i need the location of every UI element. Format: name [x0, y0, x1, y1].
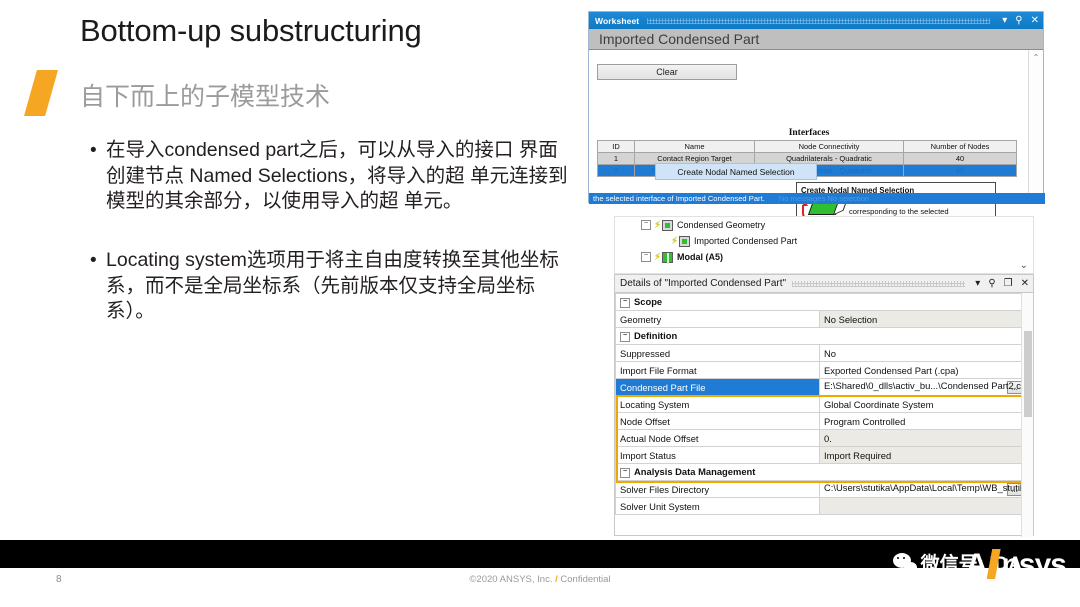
tree-node-imported-condensed-part[interactable]: ⚡ Imported Condensed Part: [615, 233, 1033, 249]
cell-id: 1: [598, 153, 635, 165]
group-expander-icon[interactable]: −: [620, 468, 630, 478]
property-value[interactable]: No: [820, 345, 1024, 362]
pin-icon[interactable]: ⚲: [984, 275, 999, 292]
property-row-locating-system[interactable]: Locating System Global Coordinate System: [616, 396, 1024, 413]
tree-node-label: Modal (A5): [677, 252, 723, 262]
property-value: E:\Shared\0_dlls\activ_bu...\Condensed P…: [824, 380, 1024, 391]
scroll-up-icon[interactable]: ⌃: [1029, 50, 1043, 64]
property-row-solver-unit-system[interactable]: Solver Unit System: [616, 498, 1024, 515]
tooltip-line-2: corresponding to the selected: [849, 207, 978, 217]
property-key: Solver Unit System: [616, 498, 820, 515]
copyright-suffix: Confidential: [560, 574, 610, 585]
worksheet-scrollbar[interactable]: ⌃ ⌄: [1028, 50, 1043, 204]
property-value: 0.: [820, 430, 1024, 447]
worksheet-header-band: Imported Condensed Part: [589, 29, 1043, 50]
column-header-number-of-nodes: Number of Nodes: [904, 141, 1017, 153]
details-table: −Scope Geometry No Selection −Definition…: [615, 293, 1024, 515]
tree-scroll-down-icon[interactable]: ⌄: [1020, 260, 1028, 271]
property-row-condensed-part-file[interactable]: Condensed Part File ... E:\Shared\0_dlls…: [616, 379, 1024, 396]
tree-node-condensed-geometry[interactable]: − ⚡ Condensed Geometry: [615, 217, 1033, 233]
property-value: Import Required: [820, 447, 1024, 464]
page-title: Bottom-up substructuring: [80, 12, 560, 50]
property-value[interactable]: Program Controlled: [820, 413, 1024, 430]
group-label: −Analysis Data Management: [616, 464, 1024, 481]
property-group-analysis-data-management[interactable]: −Analysis Data Management: [616, 464, 1024, 481]
bullet-text: 在导入condensed part之后，可以从导入的接口 界面创建节点 Name…: [106, 138, 570, 215]
bullet-item: • 在导入condensed part之后，可以从导入的接口 界面创建节点 Na…: [90, 138, 570, 215]
details-panel-title: Details of "Imported Condensed Part": [615, 278, 786, 289]
orange-slash-accent-icon: [24, 70, 58, 116]
lightning-icon: ⚡: [654, 220, 661, 231]
property-value[interactable]: Exported Condensed Part (.cpa): [820, 362, 1024, 379]
property-key: Locating System: [616, 396, 820, 413]
imported-condensed-part-icon: [679, 236, 690, 247]
property-group-scope[interactable]: −Scope: [616, 294, 1024, 311]
worksheet-window: Worksheet ▾ ⚲ ✕ Imported Condensed Part …: [588, 11, 1044, 203]
condensed-geometry-icon: [662, 220, 673, 231]
property-row-geometry[interactable]: Geometry No Selection: [616, 311, 1024, 328]
footer-meta: 8 ©2020 ANSYS, Inc. / Confidential: [0, 574, 1080, 598]
property-row-suppressed[interactable]: Suppressed No: [616, 345, 1024, 362]
property-key: Condensed Part File: [616, 379, 820, 396]
property-value-cell[interactable]: ... C:\Users\stutika\AppData\Local\Temp\…: [820, 481, 1024, 498]
property-row-import-file-format[interactable]: Import File Format Exported Condensed Pa…: [616, 362, 1024, 379]
cell-number-of-nodes: 40: [904, 165, 1017, 177]
copyright-notice: ©2020 ANSYS, Inc. / Confidential: [0, 574, 1080, 585]
lightning-icon: ⚡: [654, 252, 661, 263]
property-group-definition[interactable]: −Definition: [616, 328, 1024, 345]
close-icon[interactable]: ✕: [1017, 275, 1033, 292]
bullet-text: Locating system选项用于将主自由度转换至其他坐标系，而不是全局坐标…: [106, 248, 570, 325]
tree-node-label: Condensed Geometry: [677, 220, 765, 230]
worksheet-header-label: Imported Condensed Part: [589, 31, 759, 47]
property-key: Suppressed: [616, 345, 820, 362]
property-key: Import File Format: [616, 362, 820, 379]
cell-id: 2: [598, 165, 635, 177]
slide-content-left: Bottom-up substructuring 自下而上的子模型技术 • 在导…: [0, 0, 580, 540]
dropdown-icon[interactable]: ▾: [998, 12, 1011, 29]
property-key: Node Offset: [616, 413, 820, 430]
copyright-slash: /: [555, 574, 558, 585]
column-header-id: ID: [598, 141, 635, 153]
column-header-node-connectivity: Node Connectivity: [755, 141, 904, 153]
maximize-icon[interactable]: ❐: [1000, 275, 1017, 292]
outline-tree: − ⚡ Condensed Geometry ⚡ Imported Conden…: [614, 216, 1034, 274]
modal-analysis-icon: [662, 252, 673, 263]
clear-button[interactable]: Clear: [597, 64, 737, 80]
cell-number-of-nodes: 40: [904, 153, 1017, 165]
details-scrollbar[interactable]: [1021, 293, 1033, 537]
property-row-actual-node-offset[interactable]: Actual Node Offset 0.: [616, 430, 1024, 447]
property-row-import-status[interactable]: Import Status Import Required: [616, 447, 1024, 464]
tree-node-label: Imported Condensed Part: [694, 236, 797, 246]
worksheet-title: Worksheet: [589, 16, 639, 26]
titlebar-grip: [647, 18, 990, 24]
lightning-icon: ⚡: [671, 236, 678, 247]
wechat-icon: [893, 553, 917, 573]
property-row-solver-files-directory[interactable]: Solver Files Directory ... C:\Users\stut…: [616, 481, 1024, 498]
group-label: −Definition: [616, 328, 1024, 345]
details-panel: Details of "Imported Condensed Part" ▾ ⚲…: [614, 274, 1034, 536]
page-subtitle: 自下而上的子模型技术: [80, 80, 560, 114]
property-value[interactable]: [820, 498, 1024, 515]
status-ghost-text: No messages No selection: [779, 194, 869, 203]
property-value: C:\Users\stutika\AppData\Local\Temp\WB_s…: [824, 482, 1024, 493]
details-property-grid: −Scope Geometry No Selection −Definition…: [615, 293, 1033, 537]
copyright-prefix: ©2020 ANSYS, Inc.: [469, 574, 552, 585]
dropdown-icon[interactable]: ▾: [971, 275, 984, 292]
bullet-dot-icon: •: [90, 138, 106, 164]
tree-node-modal[interactable]: − ⚡ Modal (A5): [615, 249, 1033, 265]
scrollbar-thumb[interactable]: [1024, 331, 1032, 417]
bullet-dot-icon: •: [90, 248, 106, 274]
property-value-cell[interactable]: ... E:\Shared\0_dlls\activ_bu...\Condens…: [820, 379, 1024, 396]
worksheet-statusbar: the selected interface of Imported Conde…: [589, 193, 1045, 204]
interfaces-caption: Interfaces: [589, 128, 1029, 138]
property-row-node-offset[interactable]: Node Offset Program Controlled: [616, 413, 1024, 430]
details-titlebar: Details of "Imported Condensed Part" ▾ ⚲…: [615, 275, 1033, 293]
worksheet-body: ⌃ ⌄ Clear Interfaces ID Name Node Connec…: [589, 50, 1043, 204]
property-key: Import Status: [616, 447, 820, 464]
group-expander-icon[interactable]: −: [620, 332, 630, 342]
property-key: Geometry: [616, 311, 820, 328]
context-menu-item-create-nodal-named-selection[interactable]: Create Nodal Named Selection: [655, 163, 817, 180]
tree-expander-icon[interactable]: −: [641, 252, 651, 262]
property-value[interactable]: No Selection: [820, 311, 1024, 328]
tree-expander-icon[interactable]: −: [641, 220, 651, 230]
table-header-row: ID Name Node Connectivity Number of Node…: [598, 141, 1017, 153]
property-key: Solver Files Directory: [616, 481, 820, 498]
bullet-item: • Locating system选项用于将主自由度转换至其他坐标系，而不是全局…: [90, 248, 570, 325]
status-text: the selected interface of Imported Conde…: [593, 194, 765, 203]
worksheet-titlebar: Worksheet ▾ ⚲ ✕: [589, 12, 1043, 29]
property-key: Actual Node Offset: [616, 430, 820, 447]
titlebar-grip: [792, 281, 965, 287]
close-icon[interactable]: ✕: [1027, 12, 1043, 29]
property-value[interactable]: Global Coordinate System: [820, 396, 1024, 413]
column-header-name: Name: [635, 141, 755, 153]
group-label: −Scope: [616, 294, 1024, 311]
group-expander-icon[interactable]: −: [620, 298, 630, 308]
pin-icon[interactable]: ⚲: [1011, 12, 1026, 29]
